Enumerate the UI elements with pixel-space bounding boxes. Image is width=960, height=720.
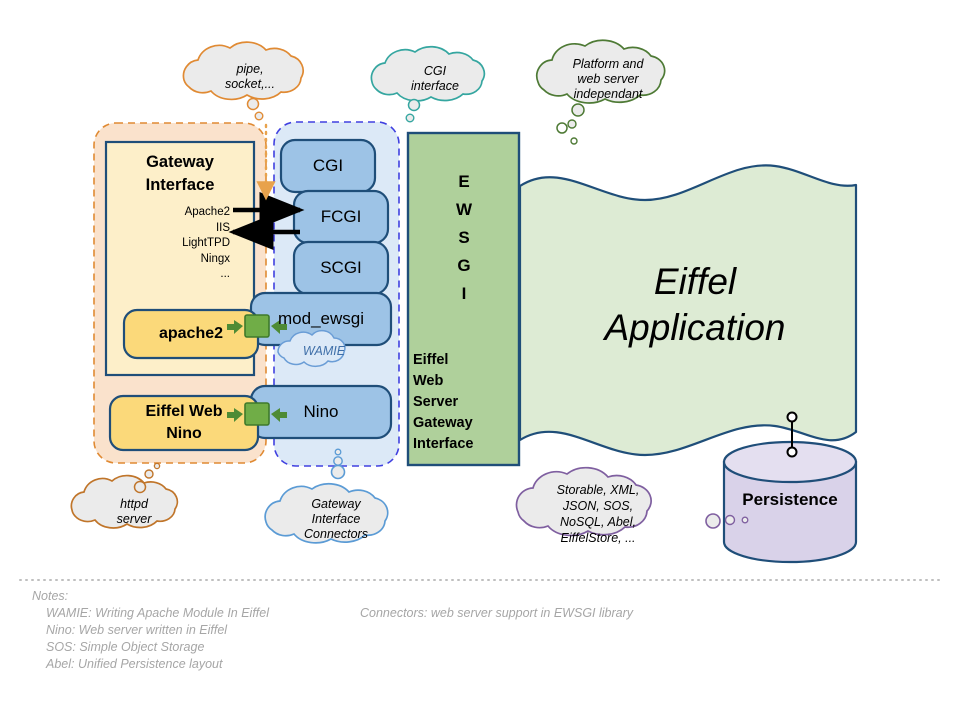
diagram-canvas: pipe, socket,... CGI interface Platform … xyxy=(0,0,960,720)
app-persistence-link xyxy=(788,413,797,457)
httpd-server-cloud-shape xyxy=(71,463,177,528)
storable-persistence-cloud-shape xyxy=(516,468,747,536)
cgi-interface-cloud-shape xyxy=(371,47,484,122)
platform-independant-cloud-shape xyxy=(537,40,665,128)
eiffel-web-nino-box-rect xyxy=(110,396,258,450)
anchor-dot xyxy=(557,123,567,133)
architecture-diagram xyxy=(0,0,960,720)
persistence-cylinder xyxy=(724,442,856,562)
cgi-box-rect xyxy=(281,140,375,192)
ewsgi-block xyxy=(408,133,519,465)
eiffel-application-flag xyxy=(520,165,856,455)
anchor-dot xyxy=(571,138,577,144)
scgi-box-rect xyxy=(294,242,388,294)
fcgi-box-rect xyxy=(294,191,388,243)
apache2-box-rect xyxy=(124,310,258,358)
nino-box-rect xyxy=(251,386,391,438)
pipe-socket-cloud-shape xyxy=(183,42,303,120)
